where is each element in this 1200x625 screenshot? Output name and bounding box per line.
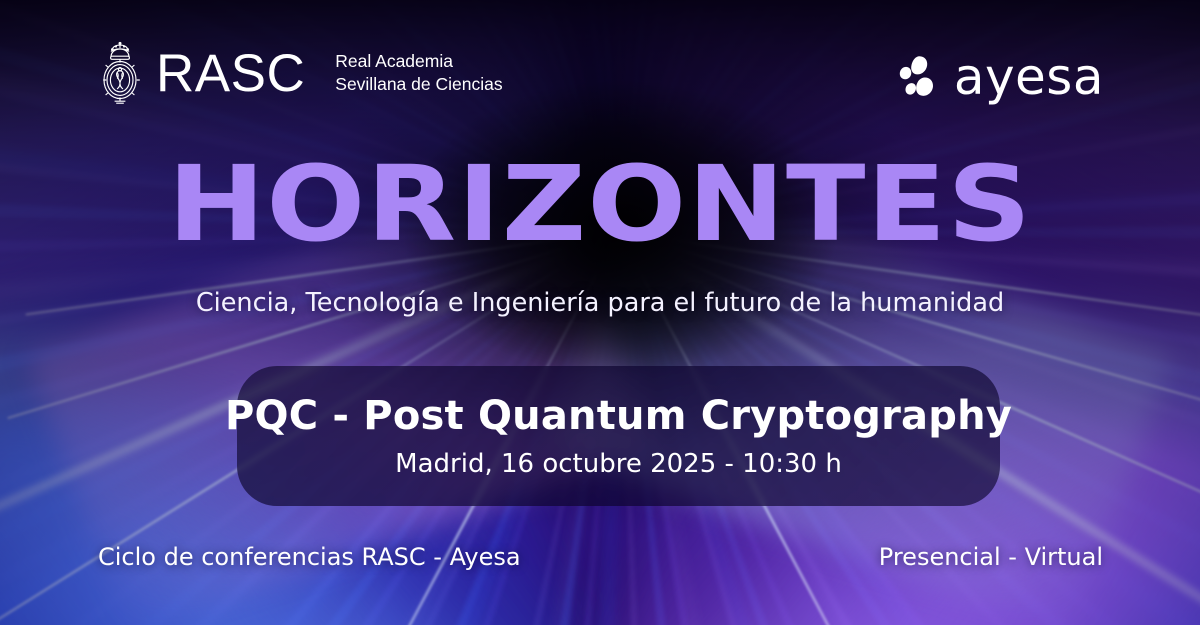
royal-crown-crest-icon [98,40,142,106]
event-title: PQC - Post Quantum Cryptography [225,393,1012,439]
rasc-logo: RASC Real Academia Sevillana de Ciencias [98,40,503,106]
footer-format-label: Presencial - Virtual [879,543,1103,571]
rasc-subtitle: Real Academia Sevillana de Ciencias [335,50,502,96]
ayesa-logo: ayesa [894,52,1104,102]
footer-series-label: Ciclo de conferencias RASC - Ayesa [98,543,521,571]
rasc-wordmark: RASC [156,47,305,100]
event-banner: RASC Real Academia Sevillana de Ciencias… [0,0,1200,625]
page-subtitle: Ciencia, Tecnología e Ingeniería para el… [0,288,1200,318]
page-title: HORIZONTES [0,152,1200,256]
rasc-subtitle-line-2: Sevillana de Ciencias [335,73,502,96]
event-datetime: Madrid, 16 octubre 2025 - 10:30 h [395,449,842,479]
event-info-card: PQC - Post Quantum Cryptography Madrid, … [237,366,1000,506]
rasc-subtitle-line-1: Real Academia [335,50,502,73]
ayesa-petals-icon [894,55,940,99]
banner-header: RASC Real Academia Sevillana de Ciencias… [0,0,1200,150]
ayesa-wordmark: ayesa [954,52,1104,102]
